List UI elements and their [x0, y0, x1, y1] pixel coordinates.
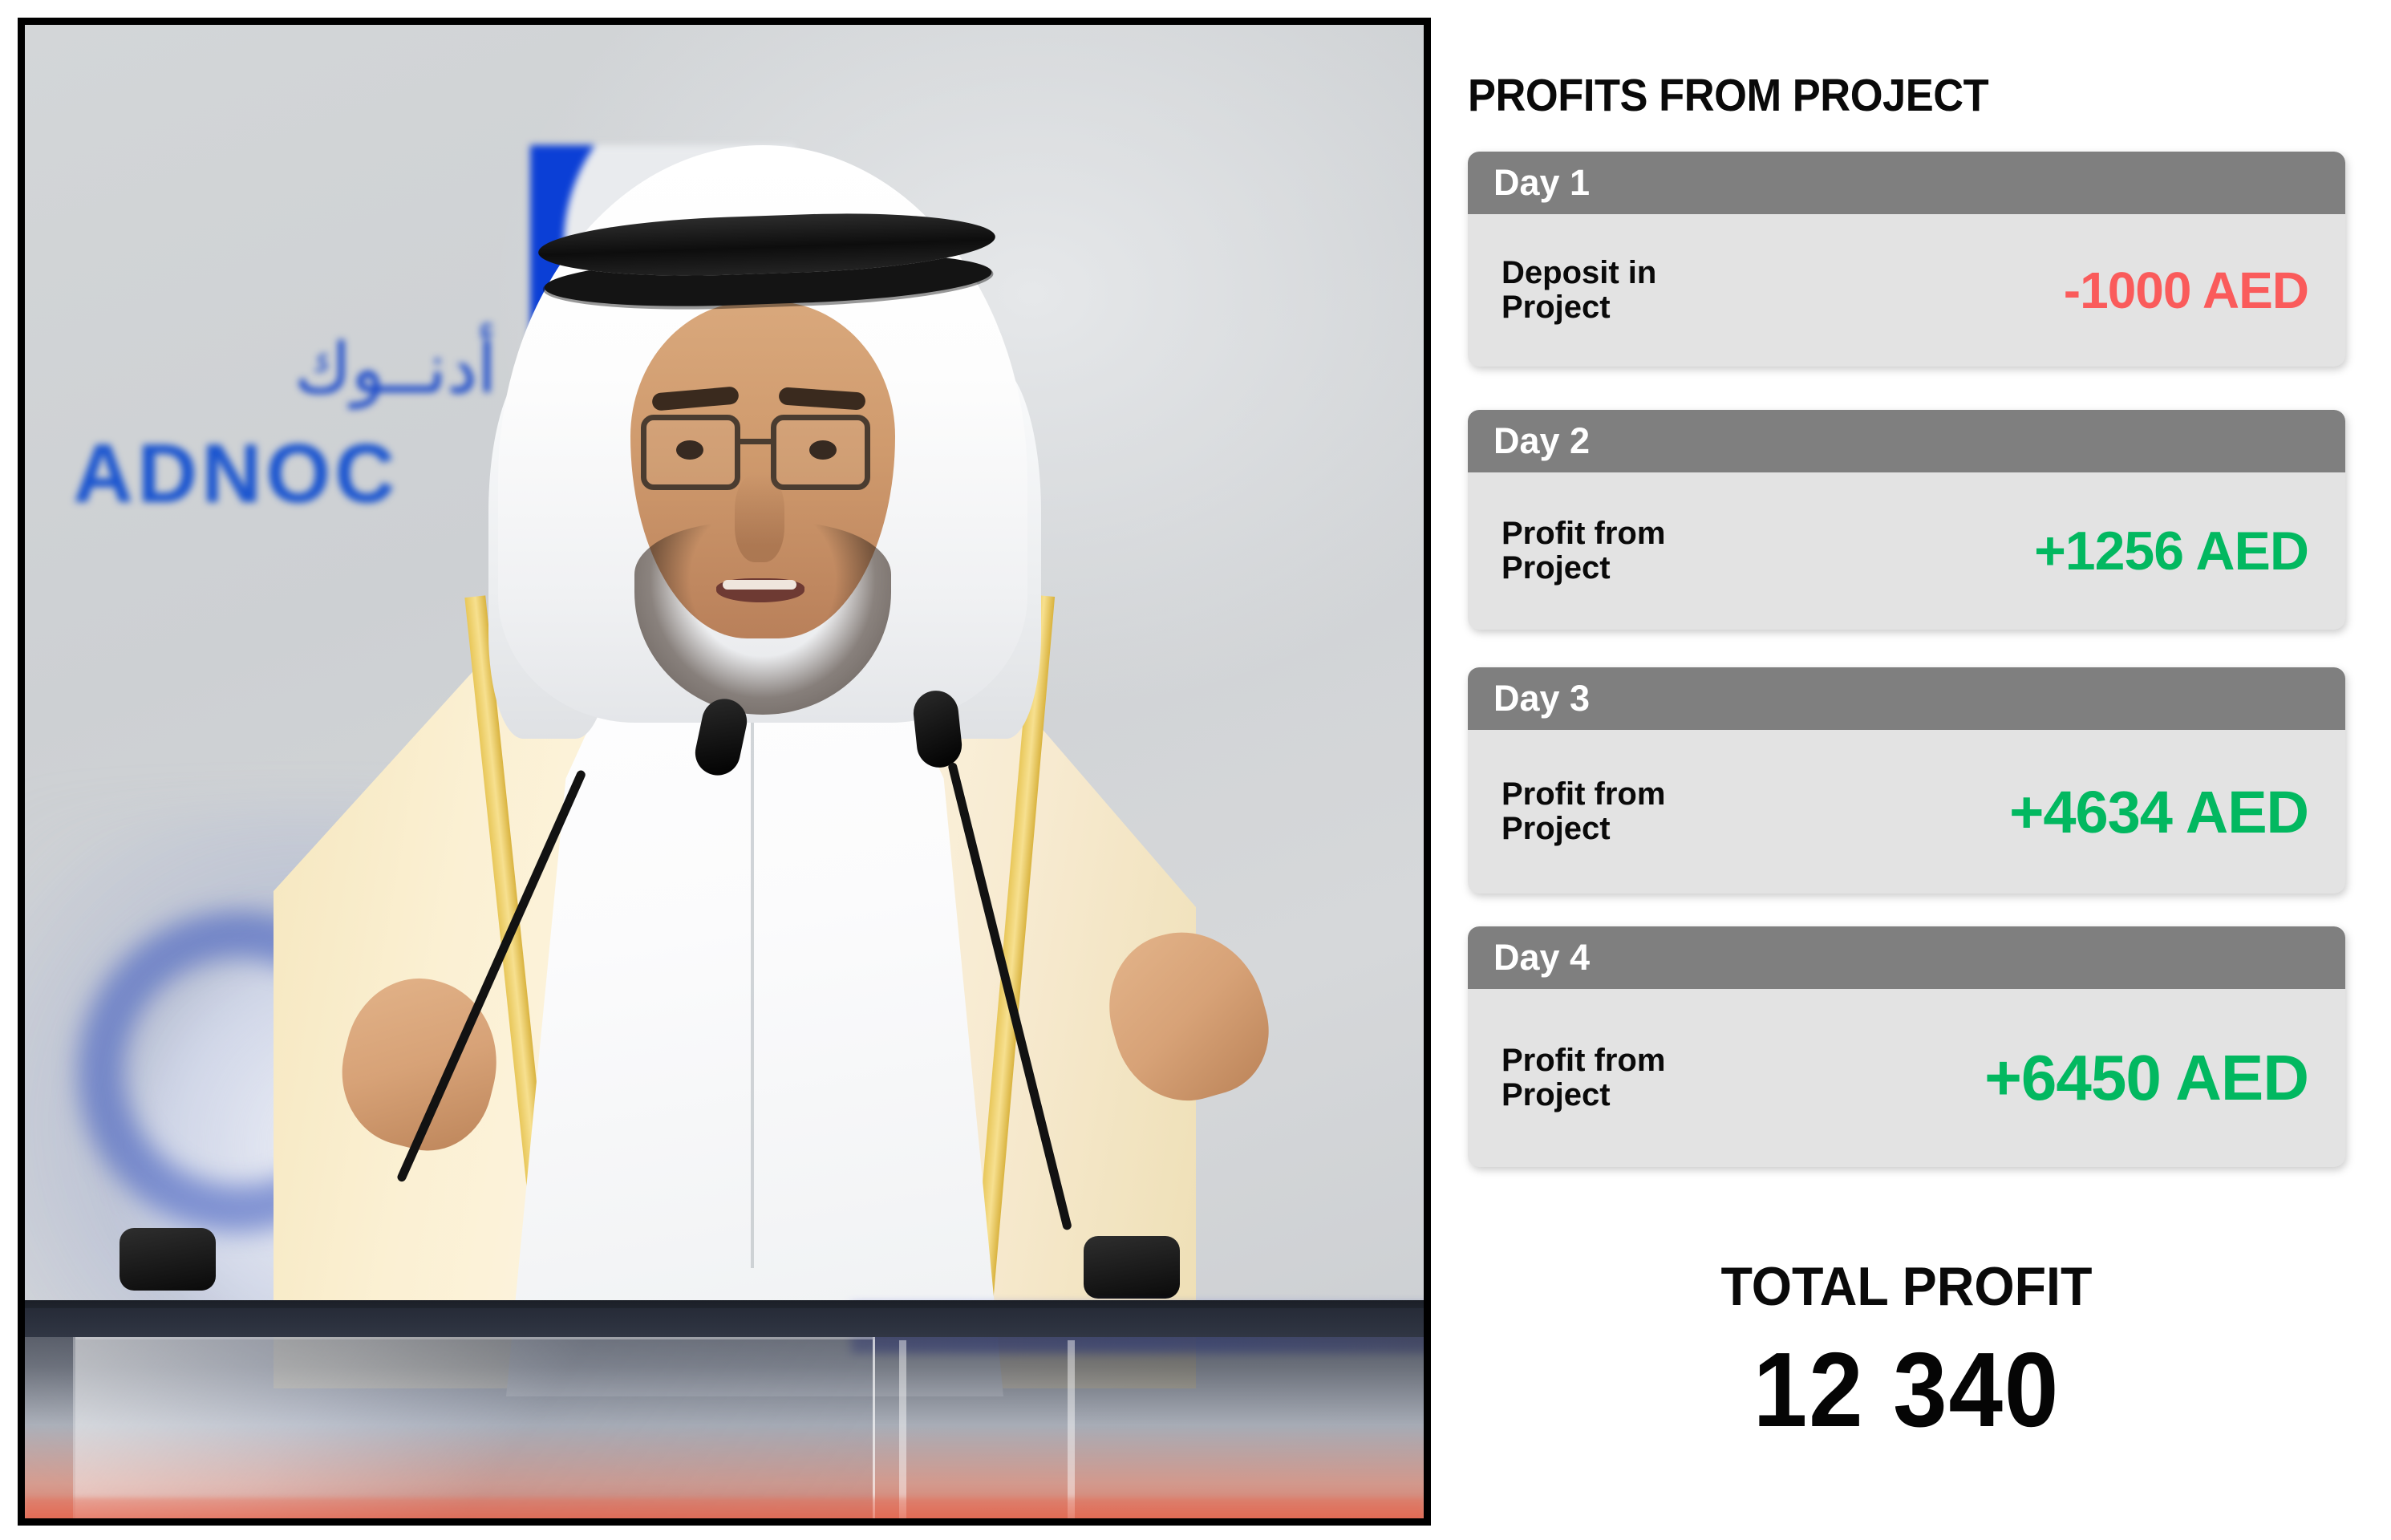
- day-card-description: Profit from Project: [1501, 1044, 1665, 1112]
- day-card: Day 3 Profit from Project +4634 AED: [1468, 667, 2345, 894]
- total-profit-block: TOTAL PROFIT 12 340: [1468, 1255, 2345, 1450]
- day-card-day-label: Day 3: [1493, 678, 1590, 719]
- day-card-header: Day 1: [1468, 152, 2345, 214]
- day-card-amount: +4634 AED: [2009, 778, 2308, 846]
- day-card-header: Day 4: [1468, 926, 2345, 989]
- glasses-lens-right: [771, 415, 870, 490]
- photo-inner: أدنــوك ADNOC: [25, 25, 1424, 1518]
- day-card-body: Profit from Project +1256 AED: [1468, 472, 2345, 630]
- nose: [735, 474, 784, 562]
- teeth: [723, 580, 796, 590]
- day-card-amount: -1000 AED: [2064, 261, 2308, 320]
- total-profit-label: TOTAL PROFIT: [1489, 1255, 2323, 1318]
- speaker-photo: أدنــوك ADNOC: [18, 18, 1431, 1526]
- day-card-day-label: Day 4: [1493, 937, 1590, 979]
- day-card-amount: +6450 AED: [1984, 1041, 2308, 1115]
- day-card-header: Day 3: [1468, 667, 2345, 730]
- day-card: Day 2 Profit from Project +1256 AED: [1468, 410, 2345, 630]
- day-card-body: Profit from Project +4634 AED: [1468, 730, 2345, 894]
- panel-title: PROFITS FROM PROJECT: [1468, 69, 1988, 122]
- total-profit-value: 12 340: [1503, 1329, 2310, 1450]
- day-card-description: Profit from Project: [1501, 777, 1665, 846]
- podium-rail-right: [1068, 1340, 1075, 1518]
- day-card-day-label: Day 1: [1493, 162, 1590, 204]
- profits-panel: PROFITS FROM PROJECT Day 1 Deposit in Pr…: [1468, 0, 2391, 1540]
- day-card: Day 1 Deposit in Project -1000 AED: [1468, 152, 2345, 367]
- podium-red-light: [25, 1497, 1424, 1518]
- day-card-description: Profit from Project: [1501, 517, 1665, 586]
- glasses-lens-left: [641, 415, 740, 490]
- day-card-body: Deposit in Project -1000 AED: [1468, 214, 2345, 367]
- glasses-bridge: [740, 439, 771, 444]
- day-card-body: Profit from Project +6450 AED: [1468, 989, 2345, 1167]
- day-card-description: Deposit in Project: [1501, 256, 1656, 325]
- mic-base-right: [1084, 1236, 1180, 1299]
- day-card: Day 4 Profit from Project +6450 AED: [1468, 926, 2345, 1167]
- speaker-figure: [25, 25, 1424, 1518]
- mic-base-left: [120, 1228, 216, 1291]
- day-card-amount: +1256 AED: [2034, 520, 2308, 582]
- day-card-day-label: Day 2: [1493, 420, 1590, 462]
- day-card-header: Day 2: [1468, 410, 2345, 472]
- infographic-root: أدنــوك ADNOC: [0, 0, 2391, 1540]
- podium-rail-left: [899, 1340, 906, 1518]
- podium-glass-front: [73, 1337, 875, 1518]
